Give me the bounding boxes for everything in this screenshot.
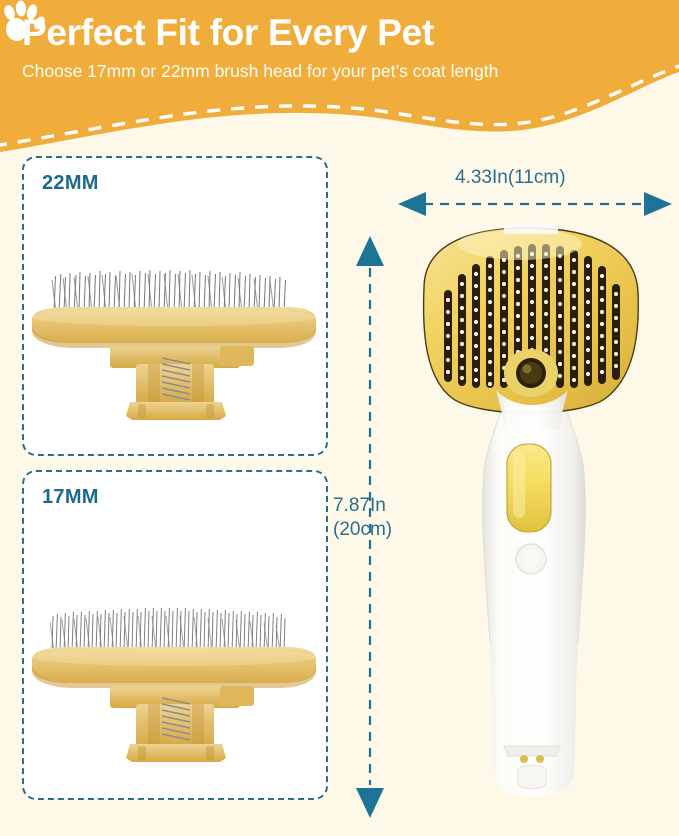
paw-print-icon [0, 0, 46, 46]
pet-grooming-brush [400, 222, 668, 822]
height-dimension-label: 7.87In (20cm) [333, 494, 392, 542]
page-title: Perfect Fit for Every Pet [22, 12, 434, 54]
infographic-canvas: Perfect Fit for Every Pet Choose 17mm or… [0, 0, 679, 836]
brush-head-17mm-illustration [24, 582, 330, 788]
header-banner: Perfect Fit for Every Pet Choose 17mm or… [0, 0, 679, 160]
arrow-down-icon [356, 788, 384, 818]
brush-handle [483, 372, 586, 796]
arrow-right-icon [644, 192, 672, 216]
arrow-left-icon [398, 192, 426, 216]
page-subtitle: Choose 17mm or 22mm brush head for your … [22, 60, 522, 83]
height-dimension-label-line2: (20cm) [333, 518, 392, 542]
center-button-dot [523, 365, 532, 374]
width-dimension-label: 4.33In(11cm) [455, 166, 566, 190]
brush-head-grille [424, 223, 639, 413]
panel-17mm-label: 17MM [42, 486, 99, 509]
panel-22mm-label: 22MM [42, 172, 99, 195]
arrow-up-icon [356, 236, 384, 266]
panel-17mm: 17MM [22, 470, 328, 800]
brush-head-22mm-illustration [24, 254, 330, 444]
height-dimension-label-line1: 7.87In [333, 494, 392, 518]
panel-22mm: 22MM [22, 156, 328, 456]
